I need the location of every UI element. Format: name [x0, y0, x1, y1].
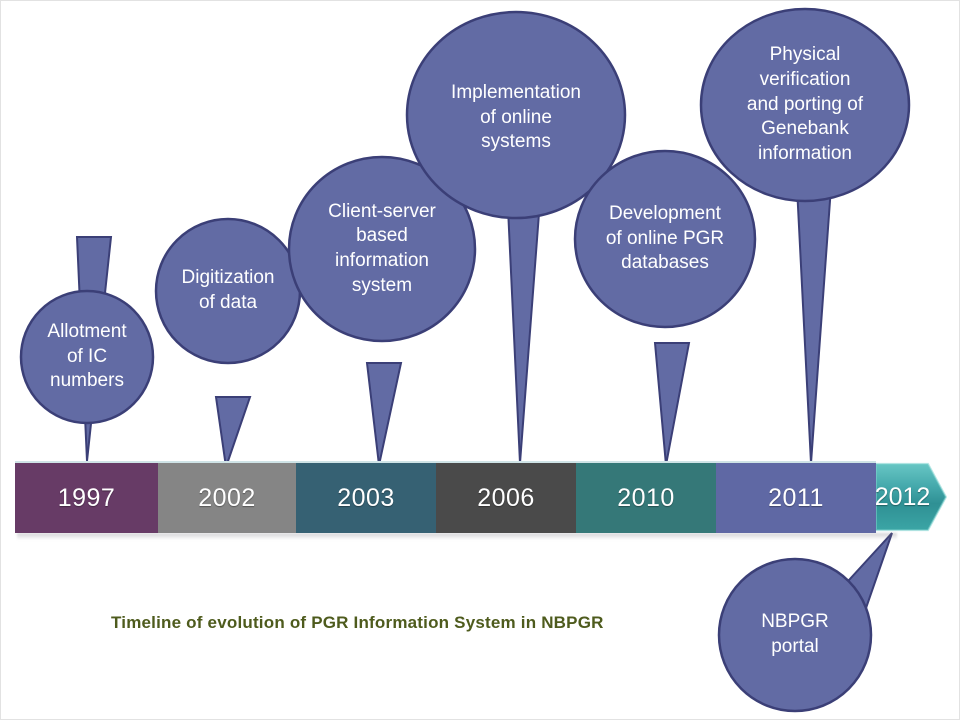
timeline-diagram: Allotment of IC numbers Digitization of … — [0, 0, 960, 720]
segment-year-label: 2002 — [198, 484, 256, 513]
segment-2003[interactable]: 2003 — [296, 461, 436, 533]
segment-2010[interactable]: 2010 — [576, 461, 716, 533]
segment-year-label: 1997 — [58, 484, 116, 513]
timeline-bar: 1997 2002 2003 2006 2010 2011 — [15, 459, 947, 535]
segment-year-label: 2003 — [337, 484, 395, 513]
segment-2006[interactable]: 2006 — [436, 461, 576, 533]
callout-shape-2011 — [699, 7, 919, 463]
segment-year-label: 2011 — [768, 484, 824, 513]
segment-1997[interactable]: 1997 — [15, 461, 158, 533]
callout-physical-verification-genebank[interactable]: Physical verification and porting of Gen… — [699, 7, 919, 463]
segment-2012-arrow[interactable]: 2012 — [876, 461, 947, 533]
segment-year-label: 2010 — [617, 484, 675, 513]
callout-shape-2012 — [707, 529, 937, 720]
diagram-caption: Timeline of evolution of PGR Information… — [111, 613, 604, 633]
callout-nbpgr-portal[interactable]: NBPGR portal — [707, 529, 937, 720]
segment-2002[interactable]: 2002 — [158, 461, 296, 533]
segment-year-label: 2012 — [876, 461, 929, 533]
segment-2011[interactable]: 2011 — [716, 461, 876, 533]
segment-year-label: 2006 — [477, 484, 535, 513]
